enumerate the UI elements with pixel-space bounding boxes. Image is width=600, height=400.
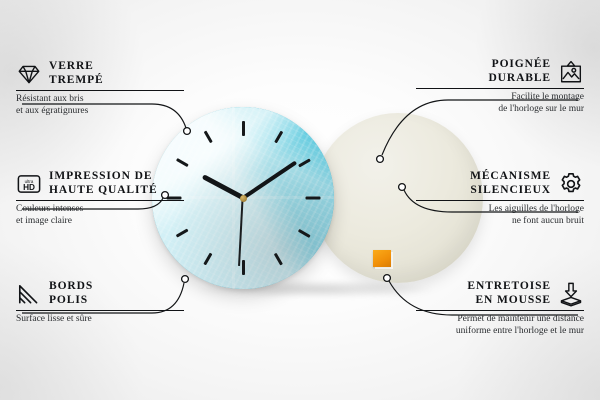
- ultra-hd-icon: ultra HD: [16, 171, 42, 197]
- callout-header: ultra HD IMPRESSION DE HAUTE QUALITÉ: [16, 170, 184, 197]
- callout-poignee-durable: POIGNÉE DURABLE Facilite le montage de l…: [416, 58, 584, 115]
- callout-verre-trempe: VERRE TREMPÉ Résistant aux bris et aux é…: [16, 60, 184, 117]
- callout-description: Couleurs intenses et image claire: [16, 204, 184, 227]
- foam-spacer-pad: [373, 250, 391, 267]
- foam-spacer-icon: [558, 281, 584, 307]
- callout-description: Les aiguilles de l'horloge ne font aucun…: [416, 204, 584, 227]
- callout-description: Résistant aux bris et aux égratignures: [16, 94, 184, 117]
- picture-hanger-icon: [558, 59, 584, 85]
- gear-icon: [558, 171, 584, 197]
- callout-rule: [16, 200, 184, 201]
- diamond-icon: [16, 61, 42, 87]
- callout-rule: [416, 310, 584, 311]
- callout-impression-haute-qualite: ultra HD IMPRESSION DE HAUTE QUALITÉ Cou…: [16, 170, 184, 227]
- callout-header: VERRE TREMPÉ: [16, 60, 184, 87]
- callout-header: ENTRETOISE EN MOUSSE: [416, 280, 584, 307]
- callout-description: Surface lisse et sûre: [16, 314, 184, 326]
- callout-header: POIGNÉE DURABLE: [416, 58, 584, 85]
- clock-tick: [242, 260, 245, 275]
- callout-title: ENTRETOISE EN MOUSSE: [467, 280, 551, 307]
- callout-header: MÉCANISME SILENCIEUX: [416, 170, 584, 197]
- callout-entretoise-en-mousse: ENTRETOISE EN MOUSSE Permet de maintenir…: [416, 280, 584, 337]
- callout-description: Facilite le montage de l'horloge sur le …: [416, 92, 584, 115]
- callout-title: IMPRESSION DE HAUTE QUALITÉ: [49, 170, 158, 197]
- polished-edge-icon: [16, 281, 42, 307]
- callout-header: BORDS POLIS: [16, 280, 184, 307]
- callout-rule: [16, 310, 184, 311]
- callout-rule: [416, 200, 584, 201]
- callout-mecanisme-silencieux: MÉCANISME SILENCIEUX Les aiguilles de l'…: [416, 170, 584, 227]
- callout-title: POIGNÉE DURABLE: [488, 58, 551, 85]
- callout-rule: [416, 88, 584, 89]
- callout-title: MÉCANISME SILENCIEUX: [470, 170, 551, 197]
- clock-tick: [242, 121, 245, 136]
- clock-tick: [305, 197, 320, 200]
- callout-title: BORDS POLIS: [49, 280, 93, 307]
- clock-hand-cap: [240, 195, 247, 202]
- callout-description: Permet de maintenir une distance uniform…: [416, 314, 584, 337]
- callout-title: VERRE TREMPÉ: [49, 60, 104, 87]
- callout-rule: [16, 90, 184, 91]
- callout-bords-polis: BORDS POLIS Surface lisse et sûre: [16, 280, 184, 326]
- svg-text:HD: HD: [23, 182, 35, 191]
